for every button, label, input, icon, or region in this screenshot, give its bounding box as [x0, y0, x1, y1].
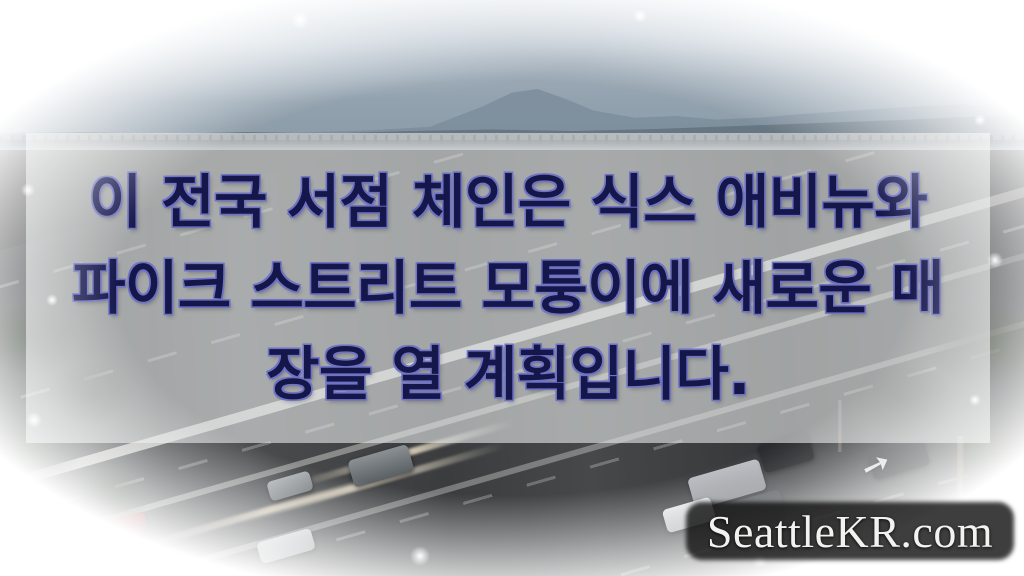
- watermark-label: SeattleKR.com: [686, 502, 1014, 560]
- caption-text: 이 전국 서점 체인은 식스 애비뉴와 파이크 스트리트 모퉁이에 새로운 매 …: [26, 133, 990, 443]
- sky: [0, 0, 1024, 152]
- caption-line-3: 장을 열 계획입니다.: [266, 334, 750, 414]
- caption-line-2: 파이크 스트리트 모퉁이에 새로운 매: [72, 248, 944, 328]
- caption-line-1: 이 전국 서점 체인은 식스 애비뉴와: [89, 162, 928, 242]
- site-watermark: SeattleKR.com: [686, 502, 1014, 560]
- screenshot-root: ➚ 이 전국 서점 체인은 식스 애비뉴와 파이크 스트리트 모퉁이에 새로운 …: [0, 0, 1024, 576]
